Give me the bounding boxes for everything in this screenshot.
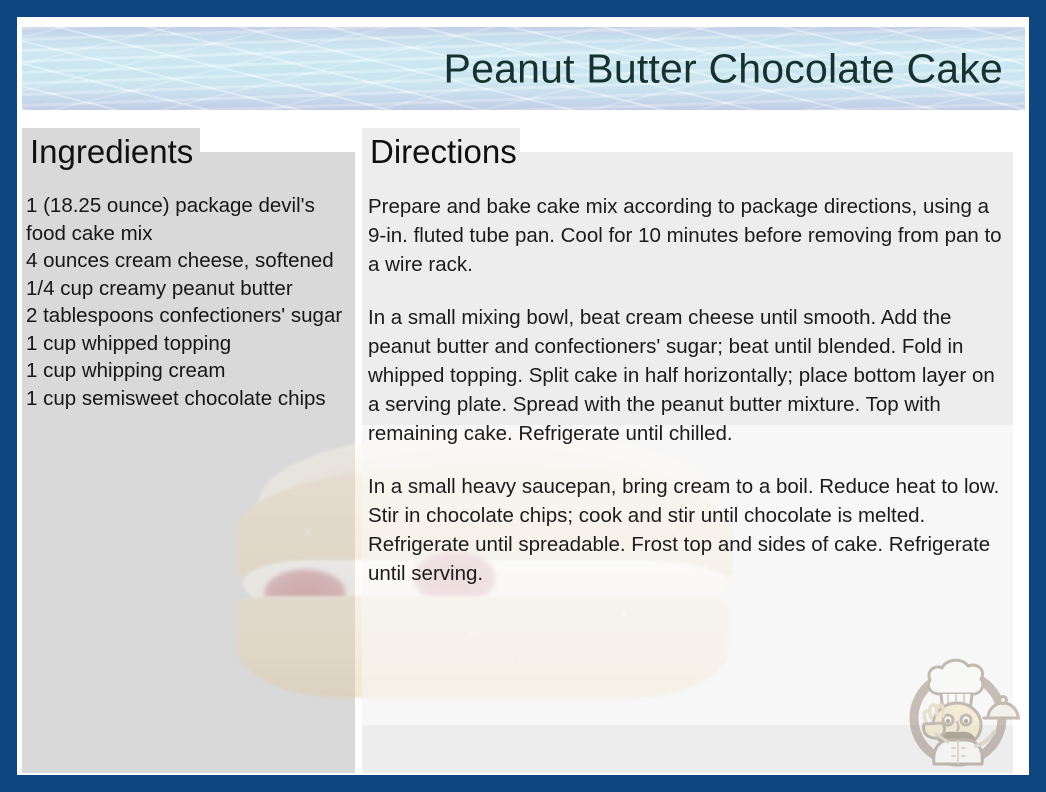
page-title: Peanut Butter Chocolate Cake bbox=[444, 45, 1003, 92]
direction-step: In a small heavy saucepan, bring cream t… bbox=[368, 472, 1003, 588]
ingredients-heading-tab: Ingredients bbox=[22, 128, 200, 175]
list-item: 1 (18.25 ounce) package devil's food cak… bbox=[26, 192, 351, 247]
list-item: 1 cup whipped topping bbox=[26, 330, 351, 358]
directions-heading-label: Directions bbox=[370, 133, 517, 171]
recipe-card: Peanut Butter Chocolate Cake Ingredients… bbox=[0, 0, 1046, 792]
list-item: 4 ounces cream cheese, softened bbox=[26, 247, 351, 275]
directions-text: Prepare and bake cake mix according to p… bbox=[368, 192, 1013, 588]
ingredients-list: 1 (18.25 ounce) package devil's food cak… bbox=[22, 192, 355, 412]
list-item: 1 cup whipping cream bbox=[26, 357, 351, 385]
list-item: 1 cup semisweet chocolate chips bbox=[26, 385, 351, 413]
ingredients-heading-label: Ingredients bbox=[30, 133, 193, 171]
list-item: 1/4 cup creamy peanut butter bbox=[26, 275, 351, 303]
direction-step: Prepare and bake cake mix according to p… bbox=[368, 192, 1003, 279]
list-item: 2 tablespoons confectioners' sugar bbox=[26, 302, 351, 330]
header-banner: Peanut Butter Chocolate Cake bbox=[22, 27, 1025, 110]
direction-step: In a small mixing bowl, beat cream chees… bbox=[368, 303, 1003, 448]
directions-heading-tab: Directions bbox=[362, 128, 520, 175]
